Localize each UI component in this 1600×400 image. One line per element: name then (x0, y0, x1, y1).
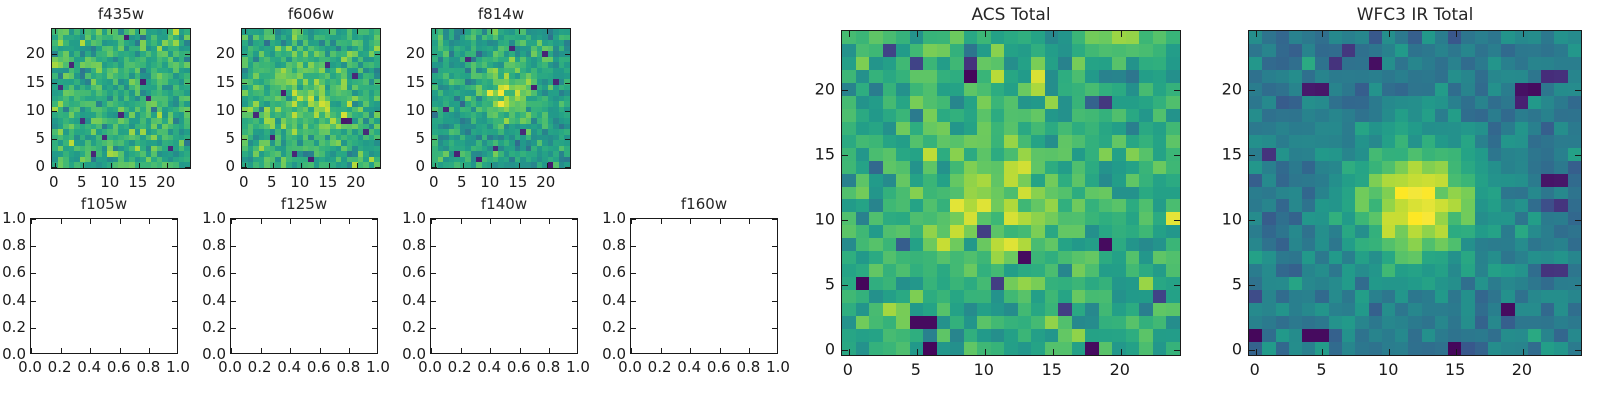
heatmap-cell (1126, 148, 1140, 161)
y-tick (31, 219, 36, 220)
heatmap-cell (1369, 251, 1382, 264)
heatmap-cell (1249, 44, 1262, 57)
heatmap-cell (1276, 264, 1289, 277)
heatmap-cell (1488, 238, 1501, 251)
heatmap-cell (1166, 70, 1180, 83)
heatmap-cell (923, 251, 937, 264)
heatmap-cell (1342, 31, 1355, 44)
heatmap-cell (1448, 96, 1461, 109)
heatmap-cell (923, 174, 937, 187)
heatmap-cell (1031, 109, 1045, 122)
heatmap-cell (1528, 122, 1541, 135)
heatmap-cell (1422, 31, 1435, 44)
heatmap-cell (1568, 122, 1581, 135)
y-tick-right (1174, 350, 1180, 351)
heatmap-cell (910, 290, 924, 303)
heatmap-cell (1528, 316, 1541, 329)
x-tick-top (301, 29, 302, 34)
x-tick-label: 0 (429, 173, 439, 191)
x-tick-label: 5 (77, 173, 87, 191)
heatmap-cell (869, 277, 883, 290)
heatmap-cell (883, 148, 897, 161)
heatmap-axes (1248, 30, 1582, 356)
heatmap-cell (1166, 199, 1180, 212)
heatmap-cell (977, 187, 991, 200)
heatmap-cell (1448, 303, 1461, 316)
y-tick-right (372, 246, 377, 247)
heatmap-cell (1515, 96, 1528, 109)
heatmap-cell (1004, 264, 1018, 277)
heatmap-cell (991, 277, 1005, 290)
heatmap-cell (1004, 329, 1018, 342)
heatmap-cell (1085, 251, 1099, 264)
heatmap-cell (950, 70, 964, 83)
y-tick-label: 20 (195, 44, 235, 62)
heatmap-cell (1153, 70, 1167, 83)
heatmap-cell (1554, 148, 1567, 161)
y-tick (432, 83, 437, 84)
heatmap-cell (1289, 303, 1302, 316)
heatmap-cell (1501, 174, 1514, 187)
heatmap-cell (1018, 277, 1032, 290)
heatmap-cell (1355, 277, 1368, 290)
heatmap-cell (1058, 70, 1072, 83)
heatmap-cell (1355, 135, 1368, 148)
x-tick (547, 163, 548, 168)
heatmap-cell (1099, 31, 1113, 44)
heatmap-cell (937, 277, 951, 290)
heatmap-cell (1262, 290, 1275, 303)
heatmap-cell (1153, 238, 1167, 251)
heatmap-cell (1501, 212, 1514, 225)
heatmap-cell (1058, 44, 1072, 57)
heatmap-cell (1408, 44, 1421, 57)
heatmap-cell (910, 161, 924, 174)
y-tick-right (772, 273, 777, 274)
heatmap-cell (1139, 161, 1153, 174)
heatmap-cell (1448, 70, 1461, 83)
heatmap-cell (1369, 148, 1382, 161)
heatmap-cell (1302, 290, 1315, 303)
heatmap-cell (1488, 187, 1501, 200)
heatmap-cell (1072, 277, 1086, 290)
heatmap-cell (1435, 161, 1448, 174)
heatmap-cell (1276, 342, 1289, 355)
heatmap-cell (937, 109, 951, 122)
x-tick-top (61, 219, 62, 224)
heatmap-cell (1435, 329, 1448, 342)
heatmap-cell (1408, 174, 1421, 187)
heatmap-cell (1166, 264, 1180, 277)
heatmap-cell (977, 174, 991, 187)
heatmap-cell (1099, 135, 1113, 148)
heatmap-cell (923, 264, 937, 277)
heatmap-cell (1369, 96, 1382, 109)
y-tick-right (172, 301, 177, 302)
heatmap-cell (1126, 57, 1140, 70)
heatmap-cell (1475, 329, 1488, 342)
x-tick-top (245, 29, 246, 34)
heatmap-cell (1302, 251, 1315, 264)
y-tick (52, 167, 57, 168)
x-tick-top (1523, 31, 1524, 37)
heatmap-cell (1031, 96, 1045, 109)
heatmap-cell (1448, 57, 1461, 70)
x-tick (61, 348, 62, 353)
heatmap-cell (896, 225, 910, 238)
heatmap-cell (1153, 264, 1167, 277)
heatmap-cell (1408, 148, 1421, 161)
x-tick-top (690, 219, 691, 224)
heatmap-cell (1289, 212, 1302, 225)
x-tick (491, 163, 492, 168)
heatmap-cell (1262, 187, 1275, 200)
x-tick (301, 163, 302, 168)
y-tick (1249, 220, 1255, 221)
heatmap-cell (1355, 199, 1368, 212)
heatmap-cell (856, 83, 870, 96)
heatmap-cell (1382, 290, 1395, 303)
heatmap-cell (1045, 174, 1059, 187)
heatmap-cell (923, 109, 937, 122)
y-tick (431, 246, 436, 247)
y-tick (631, 328, 636, 329)
x-tick-label: 0.8 (336, 358, 360, 376)
heatmap-cell (1554, 264, 1567, 277)
heatmap-cell (923, 212, 937, 225)
heatmap-cell (937, 187, 951, 200)
heatmap-cell (1382, 109, 1395, 122)
heatmap-cell (1568, 303, 1581, 316)
heatmap-cell (1369, 161, 1382, 174)
heatmap-cell (1085, 70, 1099, 83)
heatmap-cell (1568, 316, 1581, 329)
heatmap-cell (1422, 251, 1435, 264)
y-tick-label: 0.4 (0, 291, 26, 309)
heatmap-cell (1435, 44, 1448, 57)
heatmap-cell (896, 316, 910, 329)
x-tick (720, 348, 721, 353)
heatmap-cell (1528, 174, 1541, 187)
heatmap-cell (1166, 225, 1180, 238)
heatmap-cell (1475, 83, 1488, 96)
x-tick-top (1256, 31, 1257, 37)
heatmap-cell (1031, 199, 1045, 212)
heatmap-cell (950, 316, 964, 329)
heatmap-cell (1541, 83, 1554, 96)
heatmap-image (842, 31, 1180, 355)
heatmap-cell (1488, 174, 1501, 187)
x-tick (519, 163, 520, 168)
heatmap-cell (1435, 57, 1448, 70)
heatmap-cell (1461, 277, 1474, 290)
y-tick (842, 285, 848, 286)
heatmap-cell (1004, 44, 1018, 57)
heatmap-cell (923, 122, 937, 135)
heatmap-cell (1018, 290, 1032, 303)
panel-f435w: f435w0055101015152020 (51, 28, 191, 169)
x-tick-top (917, 31, 918, 37)
heatmap-cell (1302, 83, 1315, 96)
heatmap-cell (1085, 148, 1099, 161)
heatmap-cell (869, 83, 883, 96)
heatmap-cell (1475, 303, 1488, 316)
heatmap-cell (1249, 174, 1262, 187)
heatmap-cell (1541, 44, 1554, 57)
x-tick (1523, 349, 1524, 355)
heatmap-cell (1501, 44, 1514, 57)
heatmap-cell (1031, 290, 1045, 303)
heatmap-cell (1475, 212, 1488, 225)
heatmap-cell (1528, 96, 1541, 109)
heatmap-cell (856, 44, 870, 57)
heatmap-cell (910, 148, 924, 161)
heatmap-cell (1515, 44, 1528, 57)
x-tick-top (435, 29, 436, 34)
x-tick-label: 0.8 (536, 358, 560, 376)
heatmap-cell (1112, 225, 1126, 238)
y-tick-right (372, 328, 377, 329)
heatmap-cell (1448, 83, 1461, 96)
y-tick-right (375, 167, 380, 168)
heatmap-cell (1488, 83, 1501, 96)
heatmap-cell (1568, 161, 1581, 174)
x-tick (849, 349, 850, 355)
y-tick (1249, 285, 1255, 286)
heatmap-cell (923, 342, 937, 355)
heatmap-cell (1004, 251, 1018, 264)
heatmap-cell (1568, 174, 1581, 187)
heatmap-cell (964, 96, 978, 109)
heatmap-cell (883, 277, 897, 290)
heatmap-cell (1045, 199, 1059, 212)
x-tick-label: 20 (536, 173, 555, 191)
y-tick-label: 0 (1202, 340, 1242, 359)
panel-acs-total: ACS Total0055101015152020 (841, 30, 1181, 356)
heatmap-cell (1112, 57, 1126, 70)
heatmap-cell (950, 57, 964, 70)
heatmap-cell (896, 290, 910, 303)
heatmap-cell (1045, 161, 1059, 174)
y-tick (1249, 90, 1255, 91)
heatmap-cell (1153, 277, 1167, 290)
heatmap-cell (1422, 135, 1435, 148)
heatmap-cell (1408, 83, 1421, 96)
heatmap-cell (883, 96, 897, 109)
heatmap-cell (896, 148, 910, 161)
heatmap-cell (1058, 290, 1072, 303)
heatmap-cell (1355, 316, 1368, 329)
heatmap-cell (1395, 199, 1408, 212)
heatmap-cell (1099, 70, 1113, 83)
heatmap-cell (1112, 83, 1126, 96)
x-tick-label: 0.4 (677, 358, 701, 376)
heatmap-cell (1045, 251, 1059, 264)
heatmap-cell (1501, 225, 1514, 238)
heatmap-cell (977, 109, 991, 122)
heatmap-cell (1355, 148, 1368, 161)
heatmap-cell (1126, 135, 1140, 148)
heatmap-cell (1448, 212, 1461, 225)
x-tick-top (357, 29, 358, 34)
heatmap-cell (1501, 264, 1514, 277)
x-tick (83, 163, 84, 168)
heatmap-cell (869, 212, 883, 225)
heatmap-cell (1289, 225, 1302, 238)
heatmap-cell (923, 329, 937, 342)
heatmap-cell (1166, 251, 1180, 264)
heatmap-cell (1541, 316, 1554, 329)
y-tick (242, 111, 247, 112)
heatmap-cell (1302, 161, 1315, 174)
heatmap-cell (1249, 135, 1262, 148)
heatmap-cell (1395, 57, 1408, 70)
heatmap-cell (1018, 316, 1032, 329)
heatmap-cell (1541, 174, 1554, 187)
heatmap-cell (1153, 31, 1167, 44)
heatmap-cell (1058, 303, 1072, 316)
heatmap-cell (1058, 251, 1072, 264)
heatmap-cell (856, 70, 870, 83)
heatmap-cell (1262, 251, 1275, 264)
heatmap-cell (1342, 264, 1355, 277)
heatmap-cell (1072, 251, 1086, 264)
x-tick-top (491, 29, 492, 34)
heatmap-cell (1099, 96, 1113, 109)
heatmap-cell (937, 303, 951, 316)
heatmap-cell (1085, 329, 1099, 342)
heatmap-cell (1382, 316, 1395, 329)
heatmap-cell (1112, 342, 1126, 355)
heatmap-cell (1435, 109, 1448, 122)
heatmap-cell (842, 44, 856, 57)
heatmap-cell (1072, 57, 1086, 70)
heatmap-cell (1528, 212, 1541, 225)
heatmap-cell (856, 161, 870, 174)
heatmap-cell (1289, 57, 1302, 70)
heatmap-cell (1289, 290, 1302, 303)
heatmap-cell (1422, 225, 1435, 238)
x-tick (357, 163, 358, 168)
heatmap-cell (869, 329, 883, 342)
y-tick-right (565, 111, 570, 112)
heatmap-cell (1072, 225, 1086, 238)
heatmap-axes (431, 28, 571, 169)
heatmap-cell (1018, 161, 1032, 174)
heatmap-cell (1072, 135, 1086, 148)
heatmap-cell (1085, 264, 1099, 277)
heatmap-cell (1329, 148, 1342, 161)
heatmap-cell (950, 212, 964, 225)
heatmap-cell (991, 31, 1005, 44)
heatmap-cell (1289, 199, 1302, 212)
heatmap-cell (856, 277, 870, 290)
heatmap-cell (1329, 329, 1342, 342)
heatmap-cell (883, 135, 897, 148)
heatmap-cell (1382, 251, 1395, 264)
heatmap-cell (1408, 342, 1421, 355)
heatmap-cell (923, 225, 937, 238)
heatmap-cell (856, 57, 870, 70)
heatmap-cell (1342, 187, 1355, 200)
heatmap-cell (1018, 109, 1032, 122)
heatmap-cell (856, 96, 870, 109)
heatmap-cell (950, 148, 964, 161)
heatmap-cell (1369, 135, 1382, 148)
heatmap-cell (842, 187, 856, 200)
heatmap-cell (1488, 96, 1501, 109)
heatmap-cell (1554, 251, 1567, 264)
x-tick-top (1456, 31, 1457, 37)
heatmap-cell (1515, 109, 1528, 122)
heatmap-cell (1355, 122, 1368, 135)
heatmap-cell (1262, 70, 1275, 83)
heatmap-cell (842, 225, 856, 238)
y-tick-label: 0 (5, 157, 45, 175)
heatmap-cell (950, 329, 964, 342)
heatmap-cell (1355, 109, 1368, 122)
heatmap-cell (1342, 251, 1355, 264)
heatmap-cell (1289, 264, 1302, 277)
heatmap-cell (1072, 70, 1086, 83)
heatmap-cell (1249, 161, 1262, 174)
heatmap-cell (1031, 31, 1045, 44)
y-tick (432, 167, 437, 168)
heatmap-cell (1435, 70, 1448, 83)
heatmap-cell (856, 251, 870, 264)
heatmap-cell (1004, 96, 1018, 109)
heatmap-cell (977, 44, 991, 57)
heatmap-cell (1395, 174, 1408, 187)
heatmap-cell (1045, 96, 1059, 109)
y-tick (431, 328, 436, 329)
heatmap-cell (1315, 264, 1328, 277)
x-tick (490, 348, 491, 353)
heatmap-cell (1276, 70, 1289, 83)
heatmap-cell (1568, 277, 1581, 290)
heatmap-cell (1395, 70, 1408, 83)
heatmap-cell (1515, 264, 1528, 277)
heatmap-cell (1475, 277, 1488, 290)
heatmap-cell (1475, 31, 1488, 44)
heatmap-cell (1329, 342, 1342, 355)
heatmap-cell (1302, 70, 1315, 83)
heatmap-cell (937, 329, 951, 342)
heatmap-cell (869, 264, 883, 277)
heatmap-cell (1355, 303, 1368, 316)
y-tick-right (375, 139, 380, 140)
heatmap-cell (1126, 303, 1140, 316)
x-tick-label: 0.4 (477, 358, 501, 376)
heatmap-cell (1435, 251, 1448, 264)
heatmap-cell (1004, 303, 1018, 316)
heatmap-cell (1488, 161, 1501, 174)
heatmap-cell (1488, 329, 1501, 342)
heatmap-cell (1112, 238, 1126, 251)
heatmap-cell (1408, 187, 1421, 200)
heatmap-cell (1289, 277, 1302, 290)
heatmap-cell (1475, 238, 1488, 251)
heatmap-cell (1435, 83, 1448, 96)
y-tick (631, 219, 636, 220)
heatmap-cell (977, 303, 991, 316)
y-tick-right (1174, 285, 1180, 286)
y-tick-right (1174, 90, 1180, 91)
x-tick-top (749, 219, 750, 224)
heatmap-cell (1112, 148, 1126, 161)
heatmap-cell (1501, 122, 1514, 135)
heatmap-cell (1501, 31, 1514, 44)
